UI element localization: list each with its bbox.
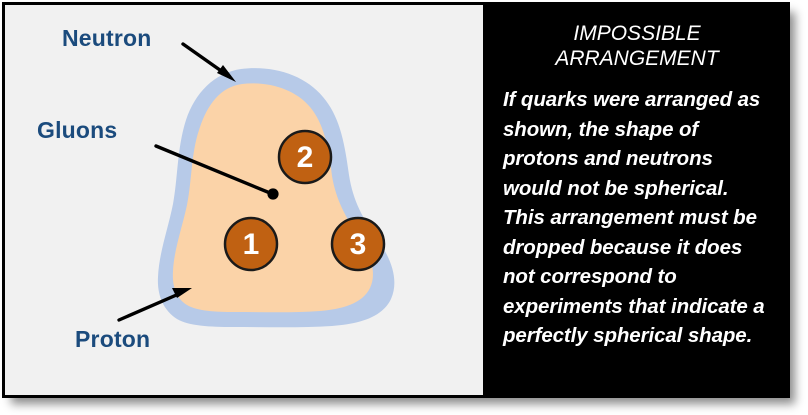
- note-body: If quarks were arranged as shown, the sh…: [503, 85, 771, 351]
- quark-circle-1[interactable]: [225, 218, 277, 270]
- quark-circle-3[interactable]: [332, 218, 384, 270]
- figure-card: 2 1 3 Neutron Gluons Proton IMPOSSIBLE A…: [2, 2, 790, 398]
- label-proton: Proton: [75, 326, 150, 353]
- label-neutron: Neutron: [62, 25, 152, 52]
- label-gluons: Gluons: [37, 117, 117, 144]
- figure-stage: 2 1 3 Neutron Gluons Proton IMPOSSIBLE A…: [0, 0, 808, 415]
- neutron-leader-arrow: [183, 44, 236, 82]
- quark-circle-2[interactable]: [279, 131, 331, 183]
- note-title: IMPOSSIBLE ARRANGEMENT: [503, 17, 771, 71]
- gluon-dot: [267, 188, 278, 199]
- note-panel: IMPOSSIBLE ARRANGEMENT If quarks were ar…: [483, 5, 787, 395]
- diagram-panel: 2 1 3 Neutron Gluons Proton: [5, 5, 483, 395]
